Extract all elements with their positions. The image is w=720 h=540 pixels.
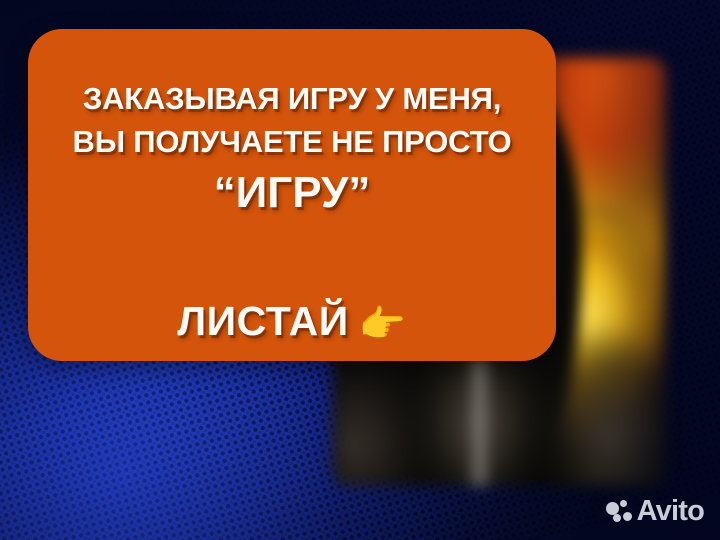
avito-dot-2 <box>620 500 627 507</box>
avito-dot-3 <box>613 514 621 522</box>
card-cta: ЛИСТАЙ👉 <box>28 301 556 344</box>
avito-dot-4 <box>623 512 632 521</box>
card-emphasis-word: “ИГРУ” <box>28 171 556 215</box>
card-headline: ЗАКАЗЫВАЯ ИГРУ У МЕНЯ, ВЫ ПОЛУЧАЕТЕ НЕ П… <box>28 83 556 157</box>
card-headline-line1: ЗАКАЗЫВАЯ ИГРУ У МЕНЯ, <box>83 81 501 116</box>
avito-logo: Avito <box>606 497 704 526</box>
avito-dot-1 <box>606 502 619 515</box>
promo-image: ЗАКАЗЫВАЯ ИГРУ У МЕНЯ, ВЫ ПОЛУЧАЕТЕ НЕ П… <box>0 0 720 540</box>
avito-wordmark: Avito <box>637 497 704 526</box>
orange-callout-card: ЗАКАЗЫВАЯ ИГРУ У МЕНЯ, ВЫ ПОЛУЧАЕТЕ НЕ П… <box>28 29 556 361</box>
pointing-right-hand-icon: 👉 <box>359 304 407 346</box>
card-cta-label: ЛИСТАЙ <box>177 298 348 344</box>
card-headline-line2: ВЫ ПОЛУЧАЕТЕ НЕ ПРОСТО <box>28 126 556 157</box>
avito-dots-icon <box>606 499 632 525</box>
